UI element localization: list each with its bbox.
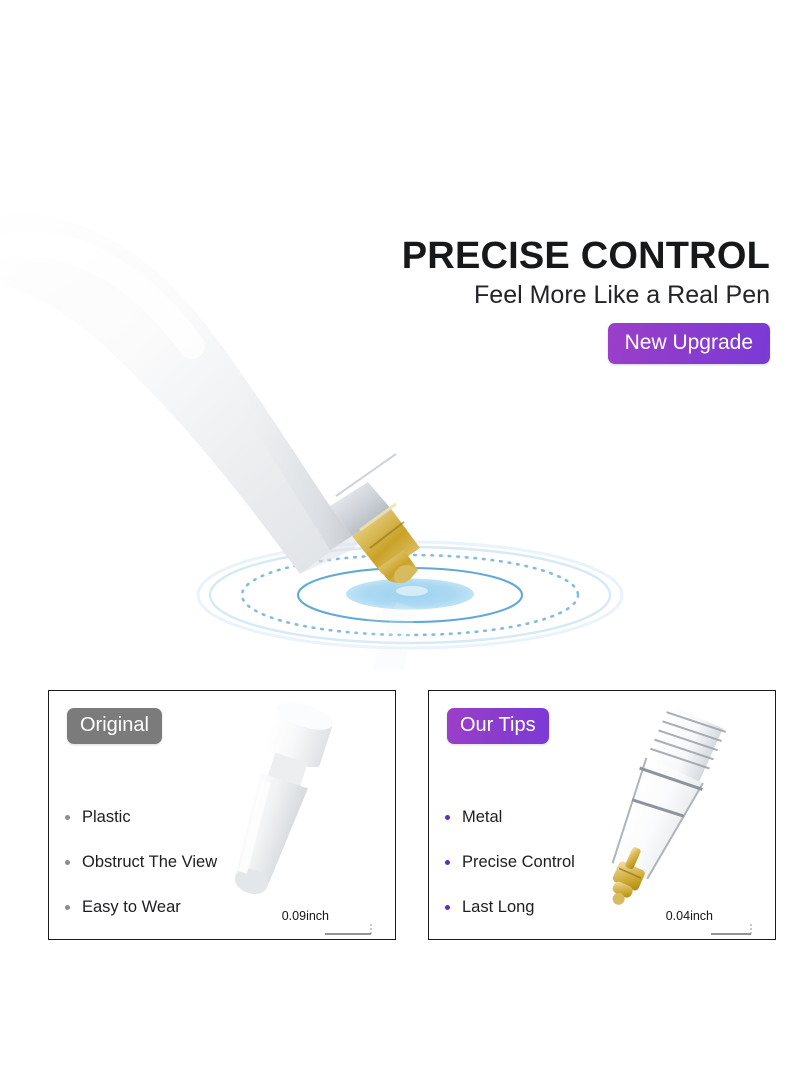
list-item: Last Long [445, 885, 575, 930]
measurement-leader-line [325, 921, 387, 939]
list-item: Obstruct The View [65, 840, 217, 885]
measurement-label-our-tips: 0.04inch [666, 909, 713, 923]
hero-section: PRECISE CONTROL Feel More Like a Real Pe… [0, 0, 800, 690]
comparison-panel-original: Original [48, 690, 396, 940]
feature-list-our-tips: Metal Precise Control Last Long [445, 795, 575, 930]
bullet-icon [445, 860, 450, 865]
page-subtitle: Feel More Like a Real Pen [300, 282, 770, 310]
list-item-label: Obstruct The View [82, 853, 217, 872]
bullet-icon [445, 815, 450, 820]
panel-tag-original: Original [67, 708, 162, 744]
measurement-leader-line [711, 921, 769, 939]
page-title: PRECISE CONTROL [300, 236, 770, 276]
list-item-label: Last Long [462, 898, 534, 917]
bullet-icon [65, 860, 70, 865]
bullet-icon [65, 905, 70, 910]
product-marketing-image: PRECISE CONTROL Feel More Like a Real Pe… [0, 0, 800, 1091]
feature-list-original: Plastic Obstruct The View Easy to Wear [65, 795, 217, 930]
comparison-panel-our-tips: Our Tips [428, 690, 776, 940]
list-item-label: Easy to Wear [82, 898, 181, 917]
list-item-label: Plastic [82, 808, 131, 827]
hero-illustration [0, 150, 470, 630]
list-item: Precise Control [445, 840, 575, 885]
list-item: Metal [445, 795, 575, 840]
list-item-label: Metal [462, 808, 502, 827]
panel-tag-our-tips: Our Tips [447, 708, 549, 744]
comparison-section: Original [0, 690, 800, 945]
bullet-icon [445, 905, 450, 910]
list-item: Plastic [65, 795, 217, 840]
measurement-label-original: 0.09inch [282, 909, 329, 923]
new-upgrade-badge: New Upgrade [608, 323, 770, 364]
our-metal-tip-illustration [566, 697, 771, 937]
list-item-label: Precise Control [462, 853, 575, 872]
hero-text-block: PRECISE CONTROL Feel More Like a Real Pe… [300, 236, 770, 364]
bullet-icon [65, 815, 70, 820]
list-item: Easy to Wear [65, 885, 217, 930]
